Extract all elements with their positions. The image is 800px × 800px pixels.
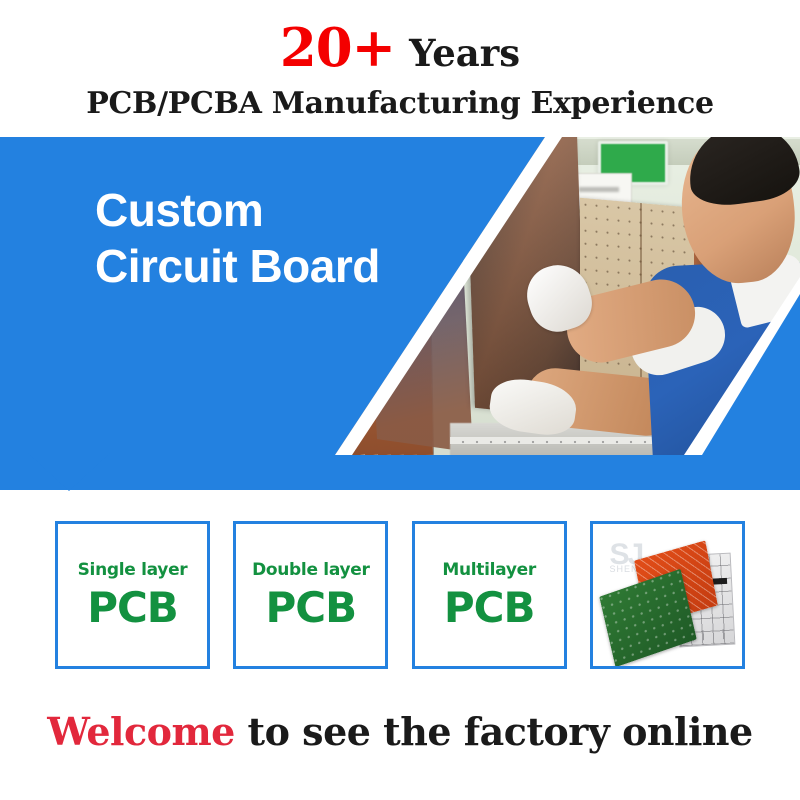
card-pcb-photo[interactable]: SJ SHENZHEN (590, 521, 745, 669)
header: 20+Years PCB/PCBA Manufacturing Experien… (0, 0, 800, 135)
years-number: 20+ (280, 17, 395, 79)
banner-title: Custom Circuit Board (95, 182, 515, 294)
header-subtitle: PCB/PCBA Manufacturing Experience (0, 88, 800, 120)
banner-title-line-1: Custom (95, 182, 515, 238)
pcb-board-green (600, 569, 698, 668)
header-line-1: 20+Years (0, 22, 800, 75)
card-label: Single layer (78, 560, 188, 580)
card-value: PCB (444, 586, 535, 630)
footer-highlight: Welcome (47, 709, 235, 754)
years-word: Years (409, 31, 520, 75)
pcb-type-card-row: Single layer PCB Double layer PCB Multil… (55, 521, 745, 669)
footer-rest: to see the factory online (235, 709, 753, 754)
banner-base-fill (0, 455, 800, 490)
card-value: PCB (87, 586, 178, 630)
pcb-boards-image: SJ SHENZHEN (603, 536, 731, 654)
hero-banner: Custom Circuit Board (0, 137, 800, 490)
promo-banner-page: 20+Years PCB/PCBA Manufacturing Experien… (0, 0, 800, 800)
card-multilayer[interactable]: Multilayer PCB (412, 521, 567, 669)
card-value: PCB (266, 586, 357, 630)
footer: Welcome to see the factory online (0, 712, 800, 752)
card-label: Double layer (252, 560, 370, 580)
banner-title-line-2: Circuit Board (95, 238, 515, 294)
card-double-layer[interactable]: Double layer PCB (233, 521, 388, 669)
card-label: Multilayer (442, 560, 536, 580)
card-single-layer[interactable]: Single layer PCB (55, 521, 210, 669)
